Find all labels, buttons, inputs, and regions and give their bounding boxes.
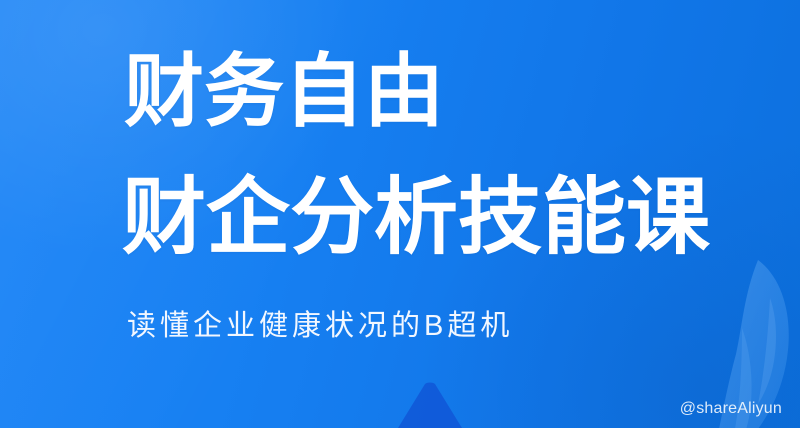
- promo-banner: 财务自由 财企分析技能课 读懂企业健康状况的B超机 @shareAliyun: [0, 0, 800, 428]
- headline-line-1: 财务自由: [124, 52, 444, 132]
- subtitle-text: 读懂企业健康状况的B超机: [127, 308, 513, 344]
- watermark-label: @shareAliyun: [680, 400, 782, 418]
- headline-line-2: 财企分析技能课: [122, 175, 710, 259]
- banner-content: 财务自由 财企分析技能课 读懂企业健康状况的B超机 @shareAliyun: [0, 0, 800, 428]
